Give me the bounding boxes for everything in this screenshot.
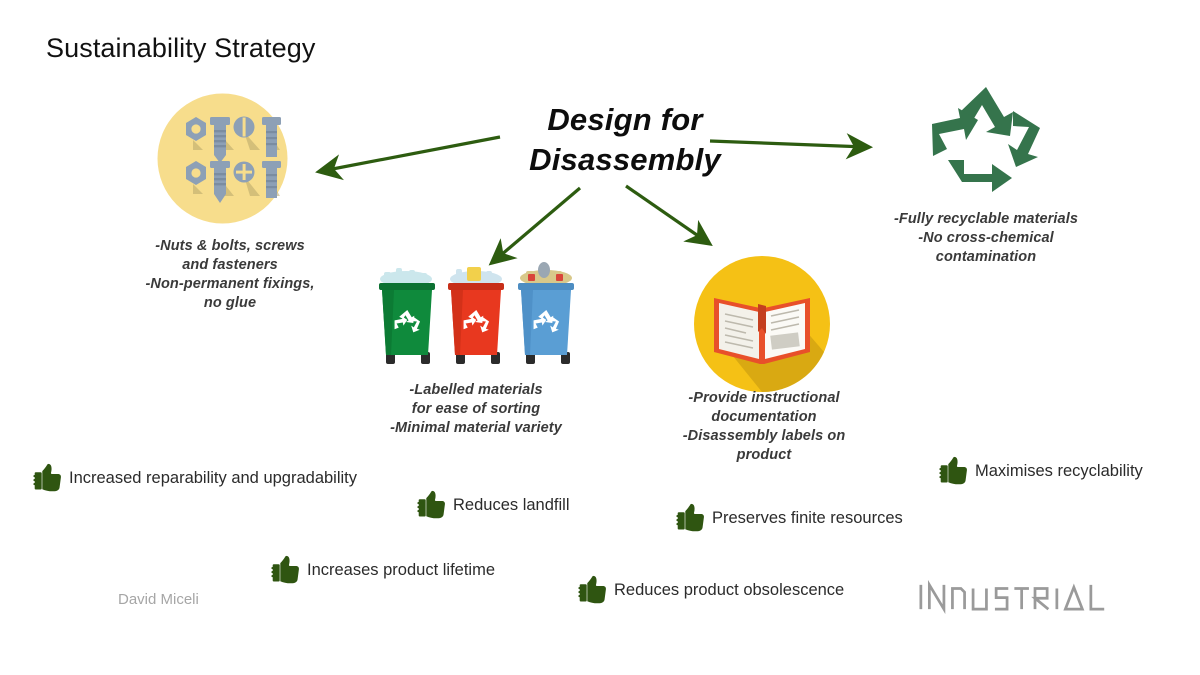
thumbs-up-icon (417, 490, 449, 520)
benefit-item: Preserves finite resources (676, 503, 903, 533)
benefit-label: Maximises recyclability (975, 463, 1143, 480)
arrow-to-documentation (626, 186, 707, 242)
documentation-caption: -Provide instructional documentation -Di… (660, 389, 868, 464)
benefit-label: Increases product lifetime (307, 562, 495, 579)
arrow-to-fasteners (322, 137, 500, 171)
recycle-symbol-icon (916, 82, 1056, 202)
caption-line: no glue (118, 294, 342, 313)
caption-line: -Disassembly labels on (660, 427, 868, 446)
industrial-brand-logo (916, 580, 1110, 614)
recycle-caption: -Fully recyclable materials -No cross-ch… (866, 210, 1106, 267)
caption-line: -Labelled materials (370, 381, 582, 400)
caption-line: -No cross-chemical (866, 229, 1106, 248)
slide-canvas: Sustainability Strategy Design for Disas… (0, 0, 1200, 675)
benefit-label: Increased reparability and upgradability (69, 470, 357, 487)
caption-line: contamination (866, 248, 1106, 267)
caption-line: documentation (660, 408, 868, 427)
caption-line: and fasteners (118, 256, 342, 275)
thumbs-up-icon (578, 575, 610, 605)
bins-caption: -Labelled materials for ease of sorting … (370, 381, 582, 438)
caption-line: -Minimal material variety (370, 419, 582, 438)
caption-line: product (660, 446, 868, 465)
caption-line: -Provide instructional (660, 389, 868, 408)
open-book-icon (692, 254, 832, 394)
benefit-item: Increases product lifetime (271, 555, 495, 585)
fasteners-caption: -Nuts & bolts, screws and fasteners -Non… (118, 237, 342, 312)
author-name: David Miceli (118, 591, 199, 608)
center-heading-line2: Disassembly (520, 140, 730, 180)
caption-line: -Non-permanent fixings, (118, 275, 342, 294)
benefit-item: Maximises recyclability (939, 456, 1143, 486)
caption-line: -Fully recyclable materials (866, 210, 1106, 229)
benefit-item: Increased reparability and upgradability (33, 463, 357, 493)
center-heading: Design for Disassembly (520, 100, 730, 179)
thumbs-up-icon (33, 463, 65, 493)
page-title: Sustainability Strategy (46, 33, 315, 64)
benefit-label: Reduces landfill (453, 497, 569, 514)
thumbs-up-icon (939, 456, 971, 486)
thumbs-up-icon (676, 503, 708, 533)
benefit-label: Preserves finite resources (712, 510, 903, 527)
benefit-item: Reduces landfill (417, 490, 569, 520)
caption-line: -Nuts & bolts, screws (118, 237, 342, 256)
thumbs-up-icon (271, 555, 303, 585)
arrow-to-recycle (710, 141, 866, 147)
center-heading-line1: Design for (520, 100, 730, 140)
arrow-to-bins (494, 188, 580, 261)
recycling-bins-icon (376, 262, 576, 366)
caption-line: for ease of sorting (370, 400, 582, 419)
screws-and-bolts-icon (156, 92, 289, 225)
benefit-item: Reduces product obsolescence (578, 575, 844, 605)
benefit-label: Reduces product obsolescence (614, 582, 844, 599)
